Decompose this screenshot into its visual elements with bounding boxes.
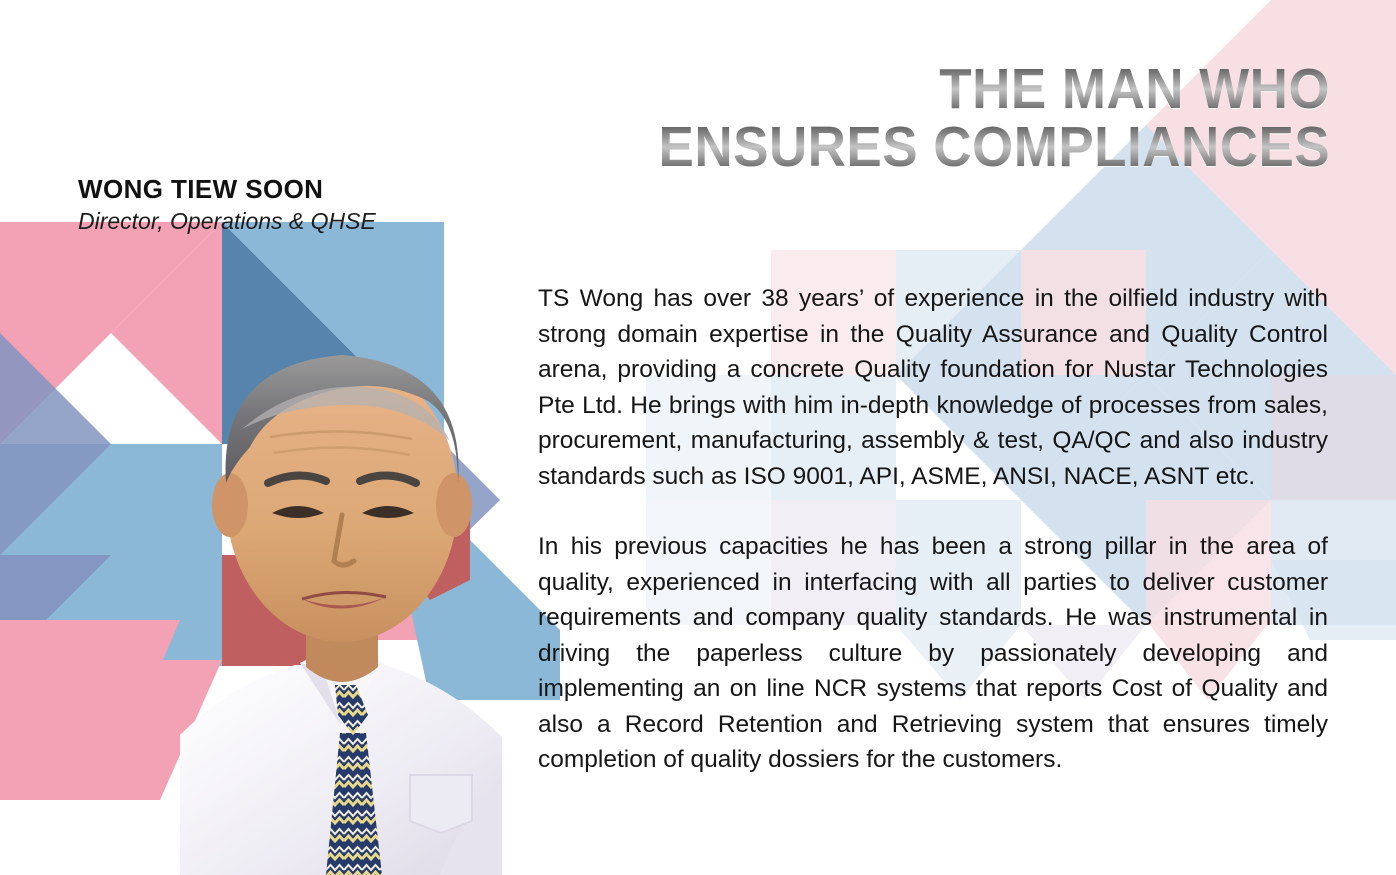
person-name: WONG TIEW SOON bbox=[78, 174, 376, 204]
profile-card: WONG TIEW SOON Director, Operations & QH… bbox=[0, 0, 1396, 875]
name-block: WONG TIEW SOON Director, Operations & QH… bbox=[78, 174, 376, 236]
bio-paragraph-1: TS Wong has over 38 years’ of experience… bbox=[538, 281, 1328, 494]
bio-paragraph-2: In his previous capacities he has been a… bbox=[538, 529, 1328, 778]
page-title: THE MAN WHO ENSURES COMPLIANCES bbox=[608, 62, 1330, 174]
headline-line-1: THE MAN WHO bbox=[658, 62, 1330, 116]
portrait-photo bbox=[110, 215, 570, 875]
bio-text: TS Wong has over 38 years’ of experience… bbox=[538, 281, 1328, 778]
person-role: Director, Operations & QHSE bbox=[78, 206, 376, 236]
headline-line-2: ENSURES COMPLIANCES bbox=[658, 120, 1330, 174]
